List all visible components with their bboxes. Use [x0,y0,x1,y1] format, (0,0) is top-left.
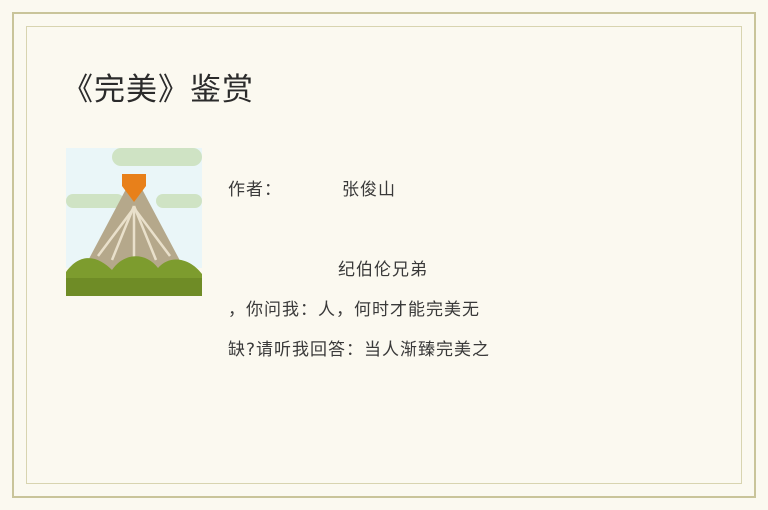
paragraph-line-1: ，你问我：人，何时才能完美无 [228,290,658,330]
page-title: 《完美》鉴赏 [62,64,254,109]
author-line: 作者：张俊山 [228,170,658,210]
blank-line [228,210,658,250]
volcano-illustration [60,146,208,298]
document-content: 《完美》鉴赏 作者：张俊山 [0,0,768,510]
author-label: 作者： [228,180,282,200]
paragraph-line-2: 缺?请听我回答：当人渐臻完美之 [228,330,658,370]
document-page: 《完美》鉴赏 作者：张俊山 [0,0,768,510]
subject-line: 纪伯伦兄弟 [228,250,658,290]
document-body: 作者：张俊山 纪伯伦兄弟 ，你问我：人，何时才能完美无 缺?请听我回答：当人渐臻… [228,170,658,370]
author-name: 张俊山 [342,180,396,200]
